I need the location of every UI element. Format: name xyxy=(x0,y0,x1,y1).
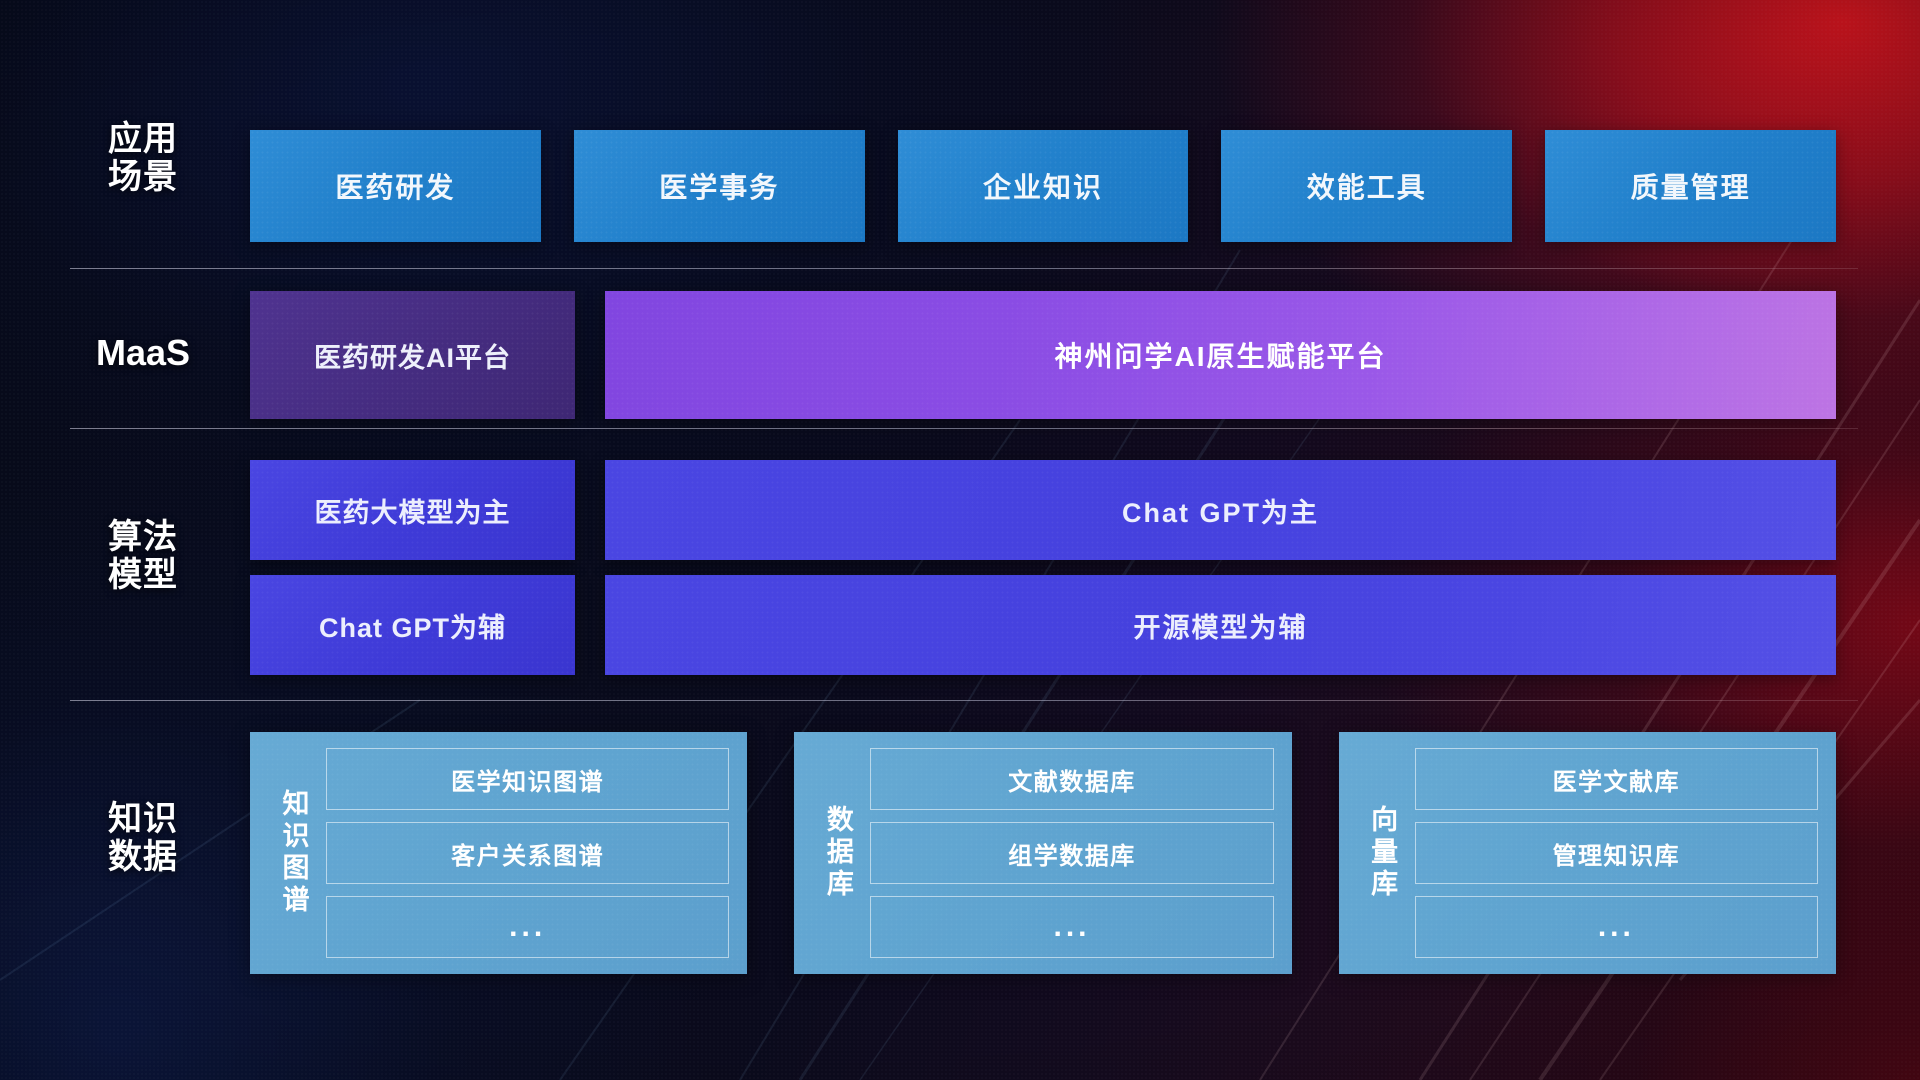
row-label-scenarios-line1: 应用 xyxy=(78,120,208,158)
knowledge-item-more[interactable]: ... xyxy=(326,896,729,958)
maas-right-label: 神州问学AI原生赋能平台 xyxy=(1054,335,1386,375)
algorithm-line: 医药大模型为主 Chat GPT为主 xyxy=(250,460,1836,560)
knowledge-item-label: 管理知识库 xyxy=(1553,836,1681,871)
scenario-card[interactable]: 企业知识 xyxy=(898,130,1189,242)
section-divider-2 xyxy=(70,428,1858,429)
knowledge-item-more[interactable]: ... xyxy=(1415,896,1818,958)
row-label-maas-text: MaaS xyxy=(78,333,208,373)
knowledge-item-label: 客户关系图谱 xyxy=(451,836,604,871)
maas-right-card[interactable]: 神州问学AI原生赋能平台 xyxy=(605,291,1836,419)
maas-row: 医药研发AI平台 神州问学AI原生赋能平台 xyxy=(250,291,1836,419)
knowledge-panel-title: 向量库 xyxy=(1349,748,1415,958)
algorithm-right-label: 开源模型为辅 xyxy=(1134,606,1308,645)
maas-left-card[interactable]: 医药研发AI平台 xyxy=(250,291,575,419)
scenario-card[interactable]: 效能工具 xyxy=(1221,130,1512,242)
knowledge-item[interactable]: 管理知识库 xyxy=(1415,822,1818,884)
algorithm-left-card[interactable]: 医药大模型为主 xyxy=(250,460,575,560)
knowledge-item-list: 医学知识图谱 客户关系图谱 ... xyxy=(326,748,729,958)
knowledge-item[interactable]: 医学文献库 xyxy=(1415,748,1818,810)
row-label-knowledge-line2: 数据 xyxy=(78,838,208,876)
knowledge-item-label: ... xyxy=(1053,910,1090,944)
knowledge-item-label: 文献数据库 xyxy=(1008,762,1136,797)
scenario-card[interactable]: 医药研发 xyxy=(250,130,541,242)
knowledge-item[interactable]: 组学数据库 xyxy=(870,822,1273,884)
algorithm-right-label: Chat GPT为主 xyxy=(1122,491,1319,530)
scenario-card-label: 企业知识 xyxy=(983,166,1103,206)
scenario-card[interactable]: 质量管理 xyxy=(1545,130,1836,242)
row-label-scenarios: 应用 场景 xyxy=(78,120,208,196)
section-divider-3 xyxy=(70,700,1858,701)
row-label-algorithm-line1: 算法 xyxy=(78,518,208,556)
row-label-algorithm: 算法 模型 xyxy=(78,518,208,594)
knowledge-panel: 向量库 医学文献库 管理知识库 ... xyxy=(1339,732,1836,974)
knowledge-panel: 知识图谱 医学知识图谱 客户关系图谱 ... xyxy=(250,732,747,974)
scenario-card-label: 效能工具 xyxy=(1307,166,1427,206)
knowledge-item-list: 文献数据库 组学数据库 ... xyxy=(870,748,1273,958)
knowledge-panel: 数据库 文献数据库 组学数据库 ... xyxy=(794,732,1291,974)
scenario-card-label: 医药研发 xyxy=(335,166,455,206)
knowledge-item[interactable]: 客户关系图谱 xyxy=(326,822,729,884)
knowledge-panel-row: 知识图谱 医学知识图谱 客户关系图谱 ... 数据库 文献数据库 组学数据库 .… xyxy=(250,732,1836,974)
algorithm-right-card[interactable]: 开源模型为辅 xyxy=(605,575,1836,675)
row-label-algorithm-line2: 模型 xyxy=(78,556,208,594)
knowledge-panel-title: 数据库 xyxy=(804,748,870,958)
knowledge-item-more[interactable]: ... xyxy=(870,896,1273,958)
knowledge-item-list: 医学文献库 管理知识库 ... xyxy=(1415,748,1818,958)
algorithm-right-card[interactable]: Chat GPT为主 xyxy=(605,460,1836,560)
knowledge-panel-title: 知识图谱 xyxy=(260,748,326,958)
knowledge-item[interactable]: 医学知识图谱 xyxy=(326,748,729,810)
algorithm-line: Chat GPT为辅 开源模型为辅 xyxy=(250,575,1836,675)
knowledge-item-label: 医学文献库 xyxy=(1553,762,1681,797)
knowledge-item-label: 医学知识图谱 xyxy=(451,762,604,797)
row-label-maas: MaaS xyxy=(78,333,208,373)
knowledge-item-label: 组学数据库 xyxy=(1008,836,1136,871)
knowledge-item[interactable]: 文献数据库 xyxy=(870,748,1273,810)
scenario-card-row: 医药研发 医学事务 企业知识 效能工具 质量管理 xyxy=(250,130,1836,242)
section-divider-1 xyxy=(70,268,1858,269)
algorithm-row: 医药大模型为主 Chat GPT为主 Chat GPT为辅 开源模型为辅 xyxy=(250,460,1836,675)
knowledge-item-label: ... xyxy=(1598,910,1635,944)
scenario-card-label: 质量管理 xyxy=(1631,166,1751,206)
row-label-knowledge-line1: 知识 xyxy=(78,800,208,838)
algorithm-left-card[interactable]: Chat GPT为辅 xyxy=(250,575,575,675)
maas-left-label: 医药研发AI平台 xyxy=(314,336,511,375)
architecture-diagram: 应用 场景 医药研发 医学事务 企业知识 效能工具 质量管理 MaaS 医药研发… xyxy=(0,0,1920,1080)
algorithm-left-label: 医药大模型为主 xyxy=(315,491,511,530)
row-label-scenarios-line2: 场景 xyxy=(78,158,208,196)
knowledge-item-label: ... xyxy=(509,910,546,944)
row-label-knowledge: 知识 数据 xyxy=(78,800,208,876)
algorithm-left-label: Chat GPT为辅 xyxy=(319,606,506,645)
scenario-card-label: 医学事务 xyxy=(659,166,779,206)
scenario-card[interactable]: 医学事务 xyxy=(574,130,865,242)
